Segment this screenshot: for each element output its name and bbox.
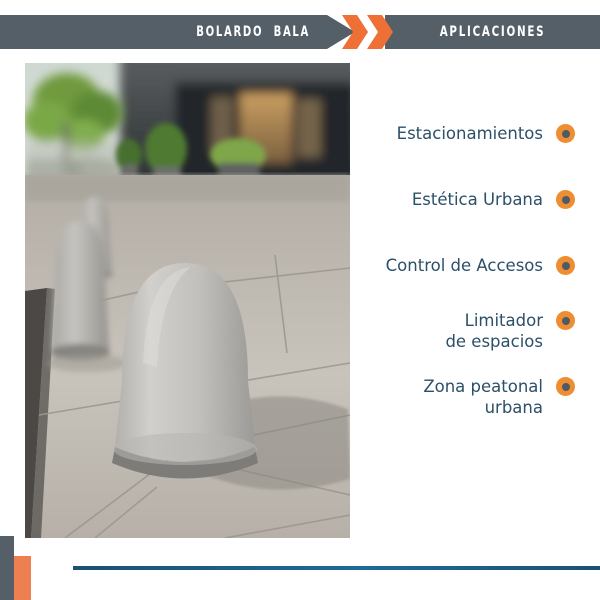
list-item[interactable]: Estética Urbana bbox=[360, 189, 575, 210]
list-item-label: Estacionamientos bbox=[397, 123, 556, 144]
bullet-dot-icon bbox=[556, 124, 575, 143]
bullet-dot-icon bbox=[556, 256, 575, 275]
footer-blue-rule bbox=[73, 566, 600, 570]
list-item-label: Estética Urbana bbox=[412, 189, 556, 210]
list-item[interactable]: Estacionamientos bbox=[360, 123, 575, 144]
list-item[interactable]: Limitador de espacios bbox=[360, 310, 575, 352]
footer-gray-block bbox=[0, 536, 14, 600]
list-item-label: Zona peatonal urbana bbox=[423, 376, 556, 418]
list-item[interactable]: Zona peatonal urbana bbox=[360, 376, 575, 418]
footer-orange-block bbox=[14, 556, 31, 600]
bullet-dot-icon bbox=[556, 377, 575, 396]
list-item-label: Control de Accesos bbox=[386, 255, 556, 276]
page-title: BOLARDO BALA bbox=[62, 15, 310, 49]
bullet-dot-icon bbox=[556, 311, 575, 330]
product-photo bbox=[25, 63, 350, 538]
header-bar: BOLARDO BALA APLICACIONES bbox=[0, 15, 600, 49]
list-item-label: Limitador de espacios bbox=[445, 310, 556, 352]
product-photo-illustration bbox=[25, 63, 350, 538]
bullet-dot-icon bbox=[556, 190, 575, 209]
section-title: APLICACIONES bbox=[404, 15, 580, 49]
list-item[interactable]: Control de Accesos bbox=[360, 255, 575, 276]
